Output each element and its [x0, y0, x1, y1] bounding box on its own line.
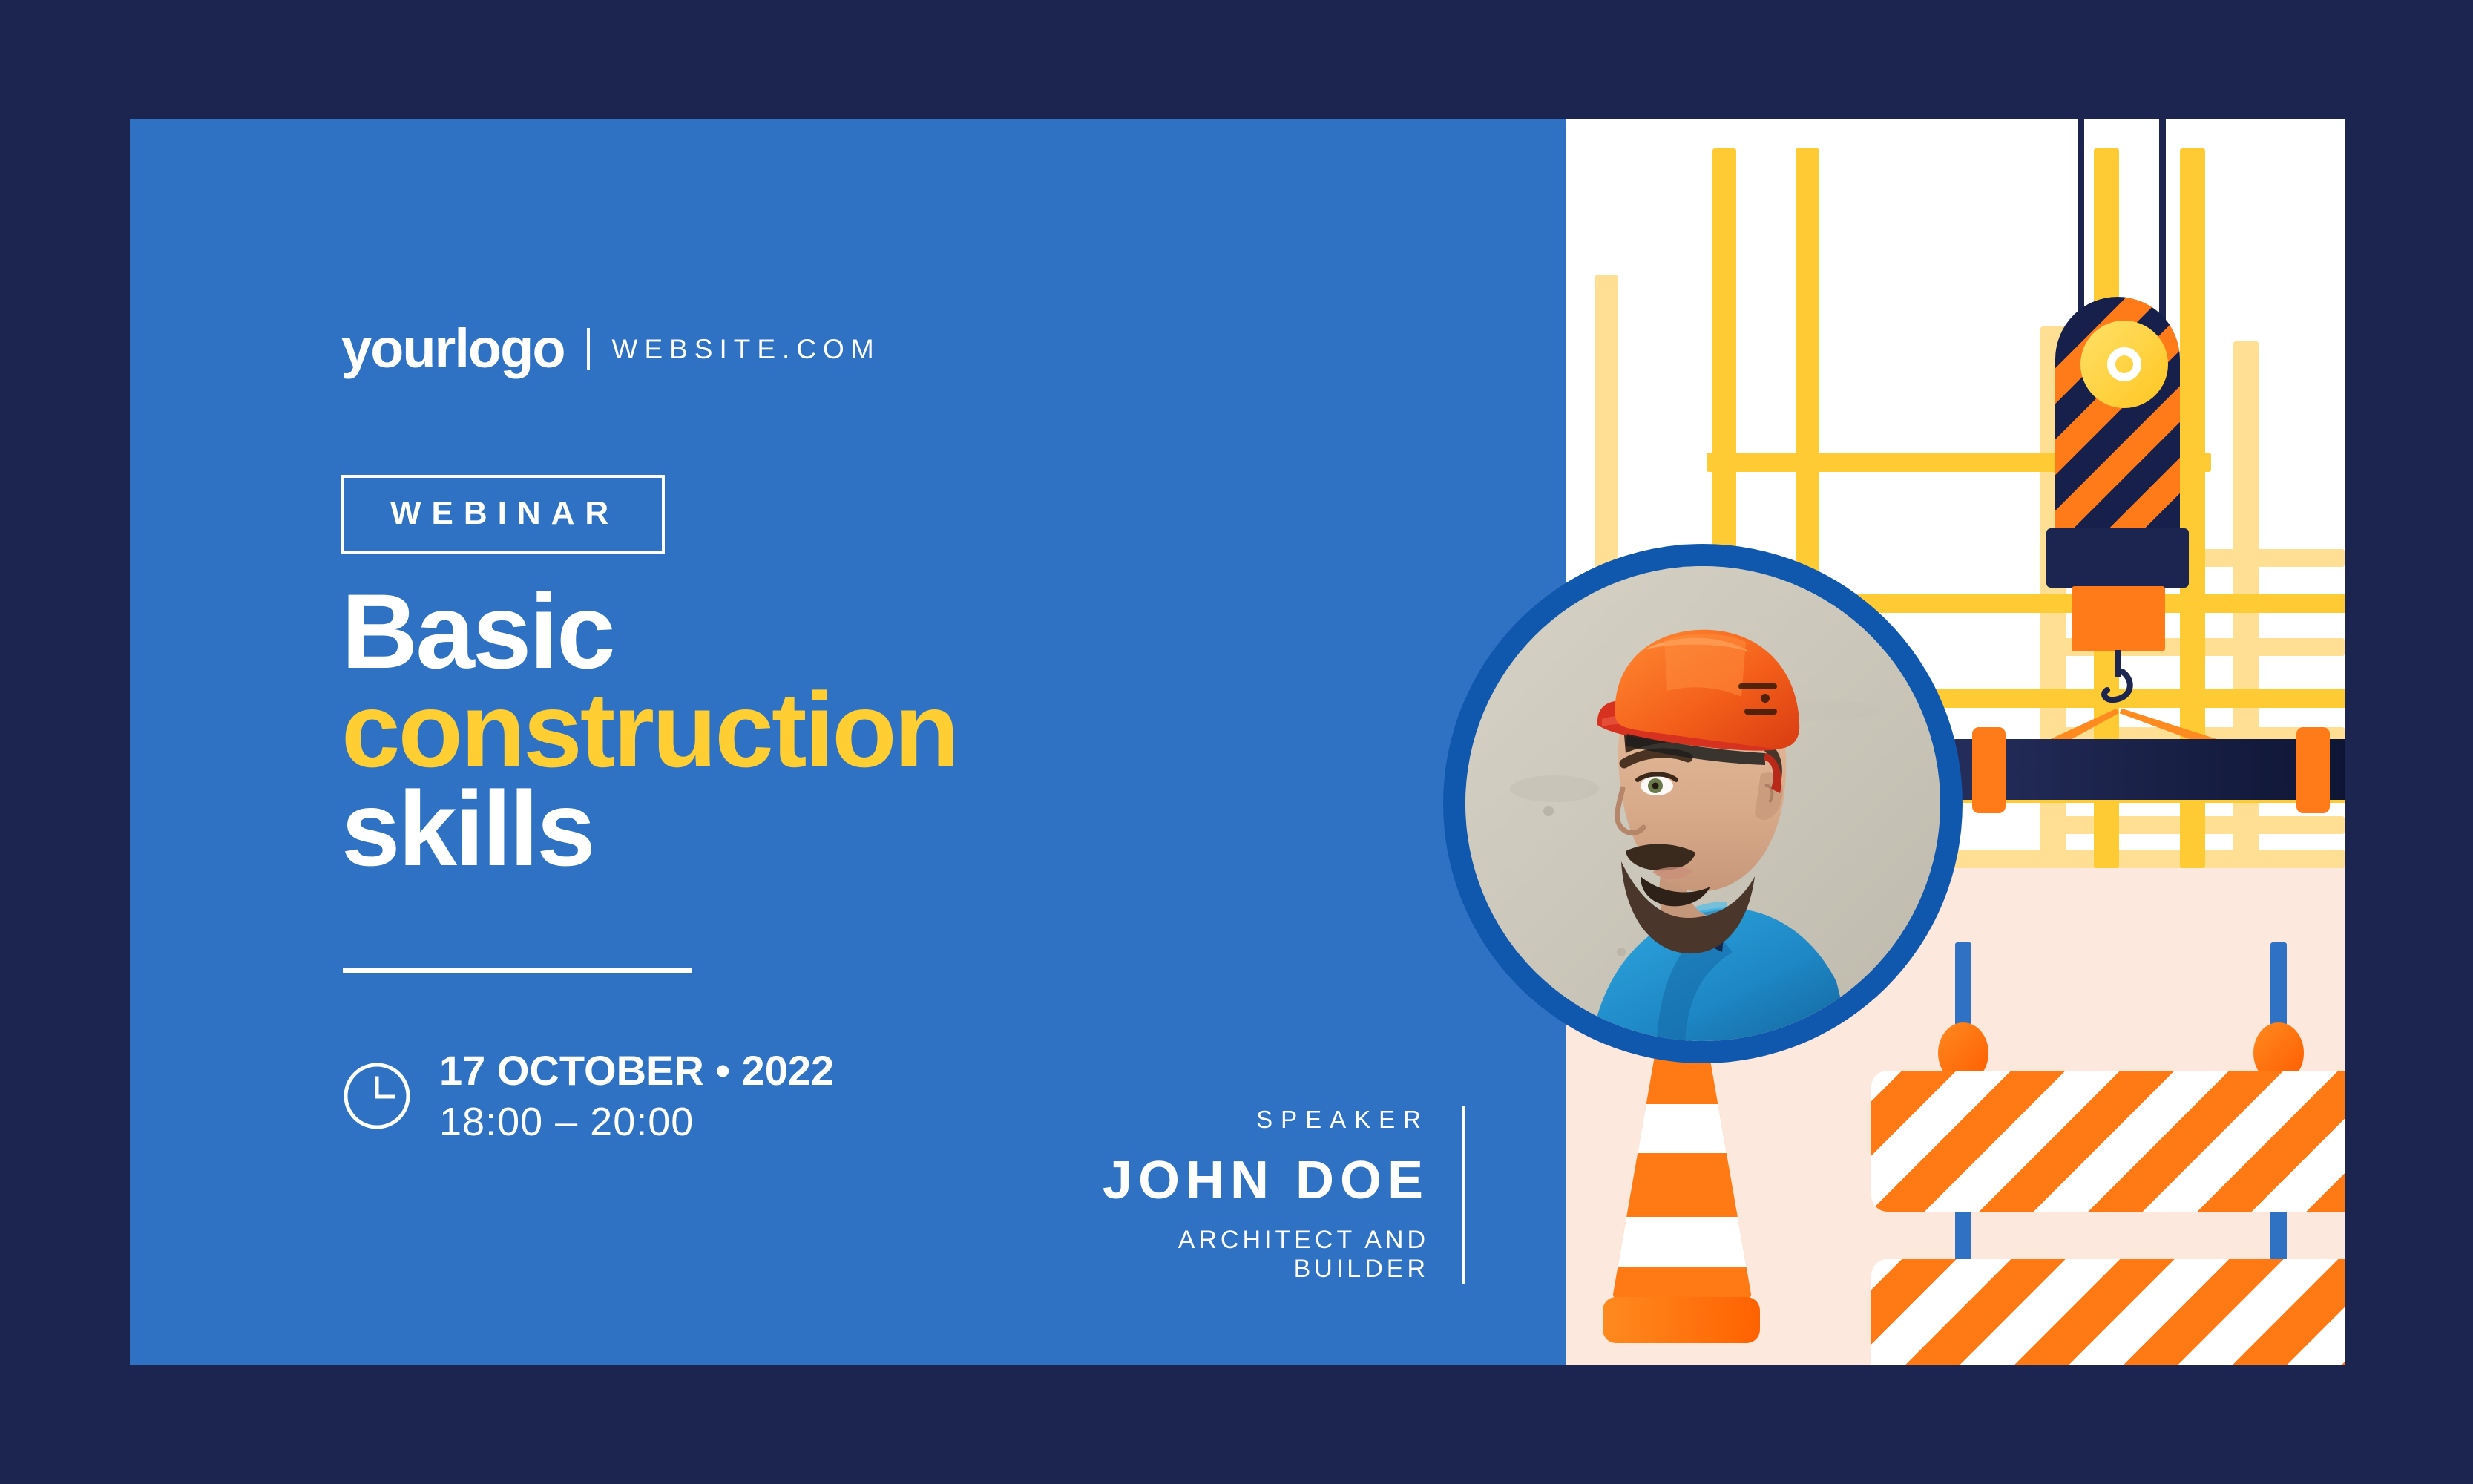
event-time: 18:00 – 20:00 — [439, 1102, 834, 1142]
headline-line-2: construction — [341, 681, 957, 780]
banner-panel: yourlogo WEBSITE.COM WEBINAR Basic const… — [130, 119, 2345, 1365]
webinar-banner: yourlogo WEBSITE.COM WEBINAR Basic const… — [0, 0, 2473, 1484]
speaker-name: JOHN DOE — [1050, 1150, 1429, 1211]
page-title: Basic construction skills — [341, 582, 957, 879]
barricade-panel-upper — [1871, 1071, 2345, 1212]
webinar-badge-label: WEBINAR — [390, 495, 619, 531]
construction-worker-portrait-image — [1465, 566, 1940, 1041]
divider-rule — [343, 968, 692, 973]
traffic-cone-icon — [1610, 1033, 1754, 1300]
logo-text: yourlogo — [341, 321, 565, 376]
speaker-label: SPEAKER — [1050, 1106, 1429, 1134]
speaker-role: ARCHITECT AND BUILDER — [1050, 1226, 1429, 1284]
barricade-panel-lower — [1871, 1259, 2345, 1365]
logo-divider — [587, 328, 590, 370]
hook-body — [2072, 586, 2165, 651]
event-date: 17 OCTOBER • 2022 — [439, 1050, 834, 1091]
avatar — [1465, 566, 1940, 1041]
clock-icon — [343, 1062, 411, 1130]
headline-line-3: skills — [341, 780, 957, 879]
traffic-cone-base — [1603, 1297, 1760, 1343]
crane-pulley-icon — [2080, 321, 2168, 408]
event-datetime: 17 OCTOBER • 2022 18:00 – 20:00 — [343, 1050, 834, 1142]
beam-cuff-right — [2296, 727, 2330, 813]
website-text: WEBSITE.COM — [612, 335, 881, 363]
speaker-block: SPEAKER JOHN DOE ARCHITECT AND BUILDER — [1050, 1106, 1465, 1284]
beam-cuff-left — [1972, 727, 2006, 813]
pulley-ring — [2107, 347, 2141, 381]
hook-collar — [2046, 528, 2189, 588]
brand-lockup: yourlogo WEBSITE.COM — [341, 321, 881, 376]
headline-line-1: Basic — [341, 582, 957, 681]
webinar-badge: WEBINAR — [341, 475, 665, 554]
left-content: yourlogo WEBSITE.COM WEBINAR Basic const… — [130, 119, 1465, 1365]
